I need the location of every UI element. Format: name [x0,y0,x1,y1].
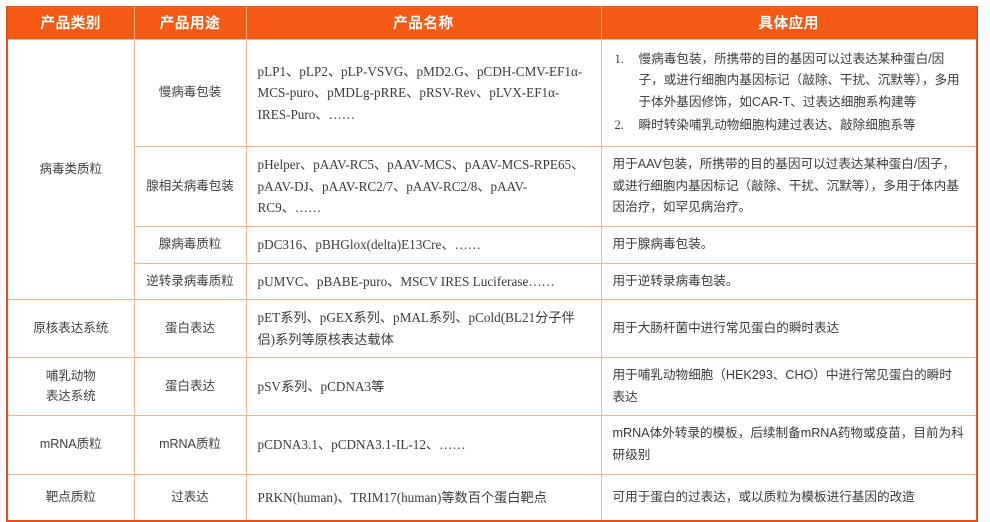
cell-use: 腺病毒质粒 [134,226,246,263]
cell-category: 原核表达系统 [7,300,134,358]
application-list: 慢病毒包装，所携带的目的基因可以过表达某种蛋白/因子，或进行细胞内基因标记（敲除… [613,49,965,137]
cell-names: pHelper、pAAV-RC5、pAAV-MCS、pAAV-MCS-RPE65… [246,147,601,227]
cell-application: 用于逆转录病毒包装。 [601,263,977,300]
header-cell-name: 产品名称 [246,6,601,40]
cell-names: pCDNA3.1、pCDNA3.1-IL-12、…… [246,416,601,474]
cell-names: pUMVC、pBABE-puro、MSCV IRES Luciferase…… [246,263,601,300]
table-row: 腺病毒质粒 pDC316、pBHGlox(delta)E13Cre、…… 用于腺… [7,226,977,263]
cell-category-line2: 表达系统 [12,387,130,406]
table-row: 逆转录病毒质粒 pUMVC、pBABE-puro、MSCV IRES Lucif… [7,263,977,300]
cell-names: pDC316、pBHGlox(delta)E13Cre、…… [246,226,601,263]
table-row: 腺相关病毒包装 pHelper、pAAV-RC5、pAAV-MCS、pAAV-M… [7,147,977,227]
cell-names: pSV系列、pCDNA3等 [246,358,601,416]
cell-names: PRKN(human)、TRIM17(human)等数百个蛋白靶点 [246,474,601,521]
cell-category-viral: 病毒类质粒 [7,40,134,300]
cell-application: 用于AAV包装，所携带的目的基因可以过表达某种蛋白/因子，或进行细胞内基因标记（… [601,147,977,227]
header-cell-category: 产品类别 [7,6,134,40]
cell-application: 用于腺病毒包装。 [601,226,977,263]
header-cell-use: 产品用途 [134,6,246,40]
table-row: 哺乳动物 表达系统 蛋白表达 pSV系列、pCDNA3等 用于哺乳动物细胞（HE… [7,358,977,416]
cell-application: mRNA体外转录的模板，后续制备mRNA药物或疫苗，目前为科研级别 [601,416,977,474]
cell-application: 用于哺乳动物细胞（HEK293、CHO）中进行常见蛋白的瞬时表达 [601,358,977,416]
cell-use: 慢病毒包装 [134,40,246,147]
cell-names: pET系列、pGEX系列、pMAL系列、pCold(BL21分子伴侣)系列等原核… [246,300,601,358]
header-row: 产品类别 产品用途 产品名称 具体应用 [7,6,977,40]
product-table-container: 产品类别 产品用途 产品名称 具体应用 病毒类质粒 慢病毒包装 pLP1、pLP… [0,0,990,453]
cell-category: 哺乳动物 表达系统 [7,358,134,416]
list-item: 慢病毒包装，所携带的目的基因可以过表达某种蛋白/因子，或进行细胞内基因标记（敲除… [613,49,965,114]
table-row: mRNA质粒 mRNA质粒 pCDNA3.1、pCDNA3.1-IL-12、……… [7,416,977,474]
cell-application: 用于大肠杆菌中进行常见蛋白的瞬时表达 [601,300,977,358]
cell-use: 蛋白表达 [134,358,246,416]
cell-use: mRNA质粒 [134,416,246,474]
table-header: 产品类别 产品用途 产品名称 具体应用 [7,6,977,40]
cell-use: 过表达 [134,474,246,521]
table-body: 病毒类质粒 慢病毒包装 pLP1、pLP2、pLP-VSVG、pMD2.G、pC… [7,40,977,522]
table-row: 病毒类质粒 慢病毒包装 pLP1、pLP2、pLP-VSVG、pMD2.G、pC… [7,40,977,147]
table-row: 原核表达系统 蛋白表达 pET系列、pGEX系列、pMAL系列、pCold(BL… [7,300,977,358]
header-cell-application: 具体应用 [601,6,977,40]
cell-category: mRNA质粒 [7,416,134,474]
cell-application: 慢病毒包装，所携带的目的基因可以过表达某种蛋白/因子，或进行细胞内基因标记（敲除… [601,40,977,147]
product-table: 产品类别 产品用途 产品名称 具体应用 病毒类质粒 慢病毒包装 pLP1、pLP… [6,6,978,522]
cell-use: 逆转录病毒质粒 [134,263,246,300]
cell-names: pLP1、pLP2、pLP-VSVG、pMD2.G、pCDH-CMV-EF1α-… [246,40,601,147]
cell-use: 腺相关病毒包装 [134,147,246,227]
cell-use: 蛋白表达 [134,300,246,358]
cell-category-line1: 哺乳动物 [12,367,130,386]
table-row: 靶点质粒 过表达 PRKN(human)、TRIM17(human)等数百个蛋白… [7,474,977,521]
cell-application: 可用于蛋白的过表达，或以质粒为模板进行基因的改造 [601,474,977,521]
cell-category: 靶点质粒 [7,474,134,521]
list-item: 瞬时转染哺乳动物细胞构建过表达、敲除细胞系等 [613,115,965,137]
